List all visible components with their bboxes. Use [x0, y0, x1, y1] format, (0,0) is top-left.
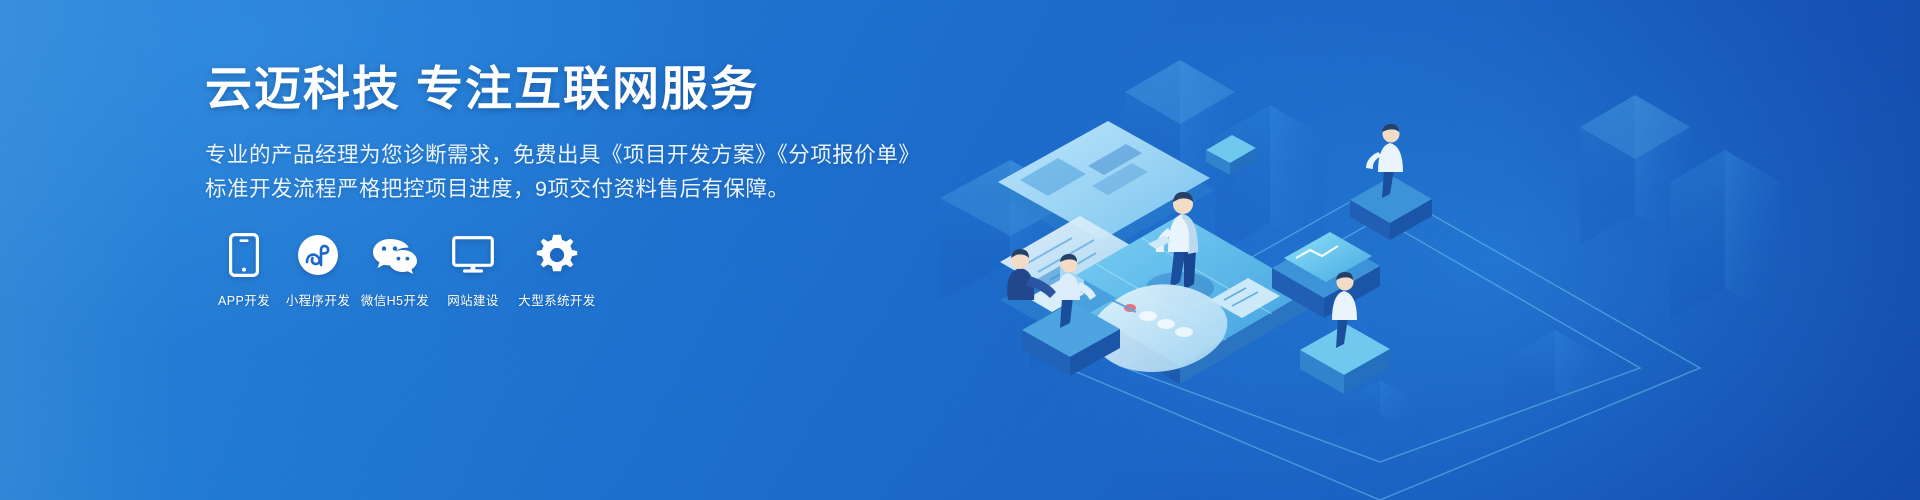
service-label: APP开发 [218, 290, 270, 309]
service-item-app[interactable]: APP开发 [205, 232, 283, 309]
page-title: 云迈科技 专注互联网服务 [205, 62, 925, 117]
wechat-icon [372, 232, 418, 278]
banner-subtitle: 专业的产品经理为您诊断需求，免费出具《项目开发方案》《分项报价单》 标准开发流程… [205, 138, 925, 208]
monitor-icon [450, 232, 496, 278]
service-label: 大型系统开发 [518, 290, 595, 309]
service-label: 微信H5开发 [361, 290, 429, 309]
mobile-phone-icon [221, 232, 267, 278]
subtitle-line-1: 专业的产品经理为您诊断需求，免费出具《项目开发方案》《分项报价单》 [205, 138, 925, 173]
isometric-tech-illustration [880, 0, 1920, 500]
service-label: 网站建设 [447, 290, 499, 309]
service-item-large-system[interactable]: 大型系统开发 [512, 232, 602, 309]
mini-program-icon [295, 232, 341, 278]
service-item-miniprogram[interactable]: 小程序开发 [279, 232, 357, 309]
service-label: 小程序开发 [286, 290, 351, 309]
service-item-wechat-h5[interactable]: 微信H5开发 [355, 232, 435, 309]
hero-banner: 云迈科技 专注互联网服务 专业的产品经理为您诊断需求，免费出具《项目开发方案》《… [0, 0, 1920, 500]
gear-icon [534, 232, 580, 278]
banner-content: 云迈科技 专注互联网服务 专业的产品经理为您诊断需求，免费出具《项目开发方案》《… [205, 62, 925, 207]
decorative-glow-band [0, 0, 180, 500]
service-list: APP开发 小程序开发 [205, 232, 602, 309]
service-item-website[interactable]: 网站建设 [437, 232, 509, 309]
subtitle-line-2: 标准开发流程严格把控项目进度，9项交付资料售后有保障。 [205, 172, 925, 207]
